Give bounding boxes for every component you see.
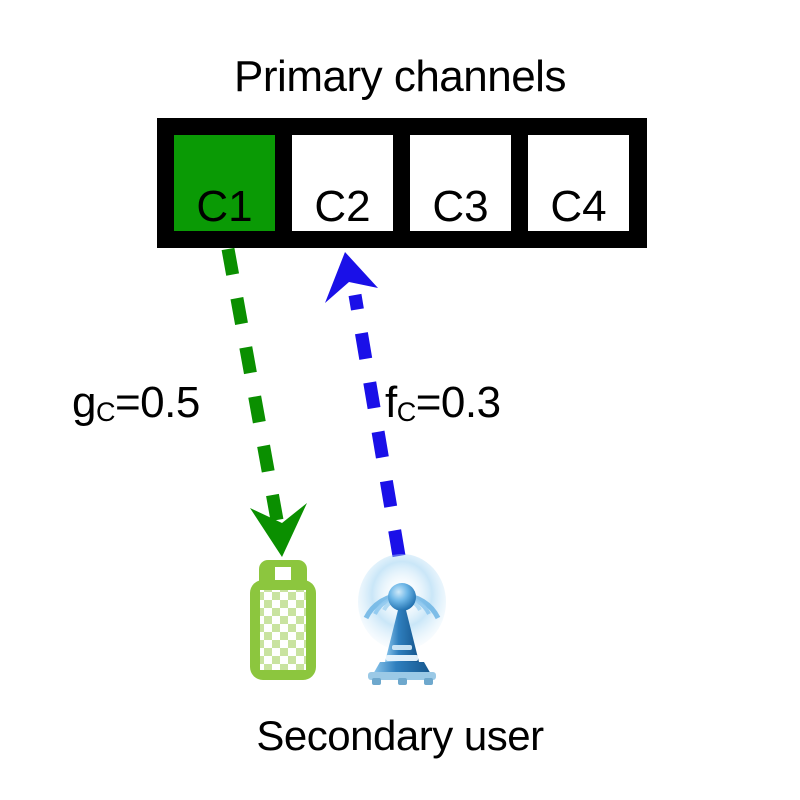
link-label-gc-value: =0.5	[115, 378, 200, 427]
link-label-gc: gC=0.5	[72, 378, 200, 428]
green-dashed-line	[228, 249, 277, 520]
secondary-user-caption: Secondary user	[0, 712, 800, 760]
antenna-tower-icon	[358, 554, 446, 685]
link-label-gc-symbol: g	[72, 378, 96, 427]
link-label-fc-symbol: f	[385, 378, 397, 427]
link-label-fc-subscript: C	[397, 397, 416, 427]
battery-icon	[250, 560, 316, 680]
link-label-fc-value: =0.3	[416, 378, 501, 427]
antenna-emitter-icon	[388, 583, 416, 611]
link-label-gc-subscript: C	[96, 397, 115, 427]
link-label-fc: fC=0.3	[385, 378, 501, 428]
diagram-canvas: Primary channels C1 C2 C3 C4	[0, 0, 800, 800]
link-gc-green	[228, 249, 307, 557]
blue-arrowhead-icon	[325, 252, 378, 303]
